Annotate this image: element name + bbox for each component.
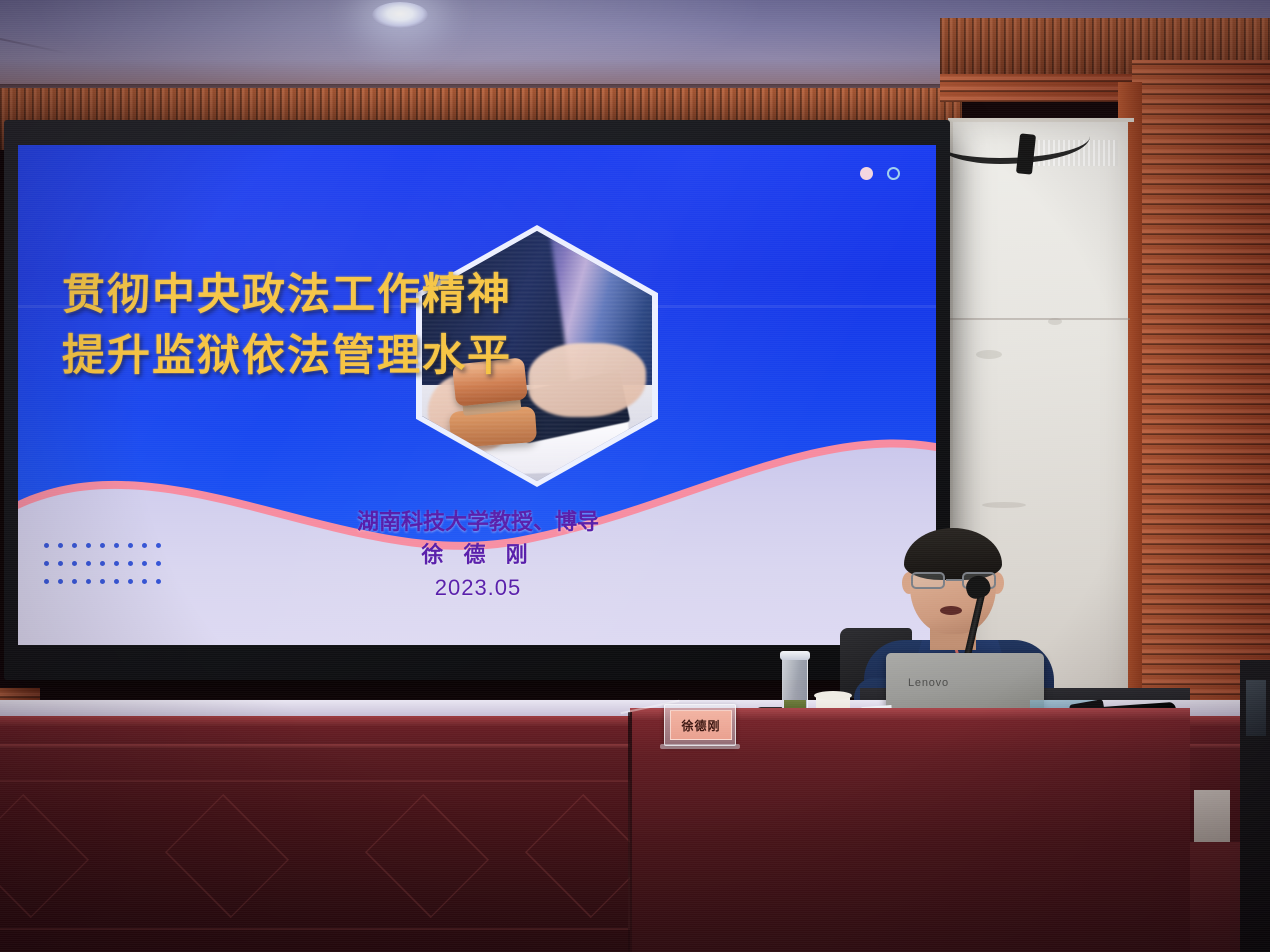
cup-rim	[814, 691, 852, 700]
grid-dot	[128, 579, 133, 584]
ceiling-light-icon	[372, 2, 428, 28]
nameplate-card: 徐德刚	[670, 710, 732, 740]
presenter-affiliation: 湖南科技大学教授、博导	[228, 505, 728, 538]
slide-dot-grid	[44, 543, 170, 597]
grid-dot	[156, 561, 161, 566]
grid-dot	[86, 579, 91, 584]
grid-dot	[156, 543, 161, 548]
grid-dot	[114, 579, 119, 584]
display-bezel-inner: 贯彻中央政法工作精神 提升监狱依法管理水平 湖南科技大学教授、博导 徐 德 刚 …	[18, 145, 936, 645]
nameplate-base	[660, 744, 740, 749]
nameplate: 徐德刚	[664, 704, 736, 746]
grid-dot	[44, 543, 49, 548]
slide-corner-markers	[860, 167, 900, 180]
laptop-brand-label: Lenovo	[908, 677, 949, 689]
grid-dot	[114, 561, 119, 566]
podium-seam	[628, 712, 632, 952]
grid-dot	[142, 561, 147, 566]
grid-dot	[142, 543, 147, 548]
slide-subtitle: 湖南科技大学教授、博导 徐 德 刚 2023.05	[228, 505, 728, 604]
filled-circle-icon	[860, 167, 873, 180]
grid-dot	[58, 579, 63, 584]
grid-dot	[128, 543, 133, 548]
presenter-mouth	[940, 606, 962, 615]
nameplate-text: 徐德刚	[681, 717, 720, 734]
equipment-display	[1246, 680, 1266, 736]
grid-dot	[58, 543, 63, 548]
slide-title: 贯彻中央政法工作精神 提升监狱依法管理水平	[62, 265, 492, 387]
slide-title-line2: 提升监狱依法管理水平	[62, 326, 492, 387]
panel-diamond	[365, 794, 489, 918]
panel-diamond	[165, 794, 289, 918]
presenter-name: 徐 德 刚	[228, 538, 728, 571]
grid-dot	[142, 579, 147, 584]
grid-dot	[114, 543, 119, 548]
grid-dot	[72, 561, 77, 566]
podium-panel-left	[0, 780, 630, 930]
grid-dot	[72, 543, 77, 548]
photo-hand-right	[528, 343, 646, 417]
lens-left	[911, 572, 945, 589]
wall-display: 贯彻中央政法工作精神 提升监狱依法管理水平 湖南科技大学教授、博导 徐 德 刚 …	[4, 120, 950, 680]
tea-bottle-cap	[780, 651, 810, 660]
grid-dot	[86, 561, 91, 566]
grid-dot	[156, 579, 161, 584]
presentation-screen: 贯彻中央政法工作精神 提升监狱依法管理水平 湖南科技大学教授、博导 徐 德 刚 …	[18, 145, 936, 645]
grid-dot	[100, 579, 105, 584]
wall-panel-upper-right	[940, 74, 1142, 102]
open-circle-icon	[887, 167, 900, 180]
grid-dot	[128, 561, 133, 566]
grid-dot	[86, 543, 91, 548]
glasses-bridge	[946, 579, 963, 581]
lecture-hall-scene: 贯彻中央政法工作精神 提升监狱依法管理水平 湖南科技大学教授、博导 徐 德 刚 …	[0, 0, 1270, 952]
grid-dot	[72, 579, 77, 584]
wall-outlet-panel	[1194, 790, 1230, 842]
grid-dot	[44, 561, 49, 566]
slide-date: 2023.05	[228, 571, 728, 604]
grid-dot	[100, 561, 105, 566]
panel-diamond	[0, 794, 89, 918]
laptop[interactable]: Lenovo	[886, 653, 1044, 715]
wall-seam	[948, 318, 1130, 320]
grid-dot	[100, 543, 105, 548]
grid-dot	[58, 561, 63, 566]
grid-dot	[44, 579, 49, 584]
slide-title-line1: 贯彻中央政法工作精神	[62, 265, 492, 326]
